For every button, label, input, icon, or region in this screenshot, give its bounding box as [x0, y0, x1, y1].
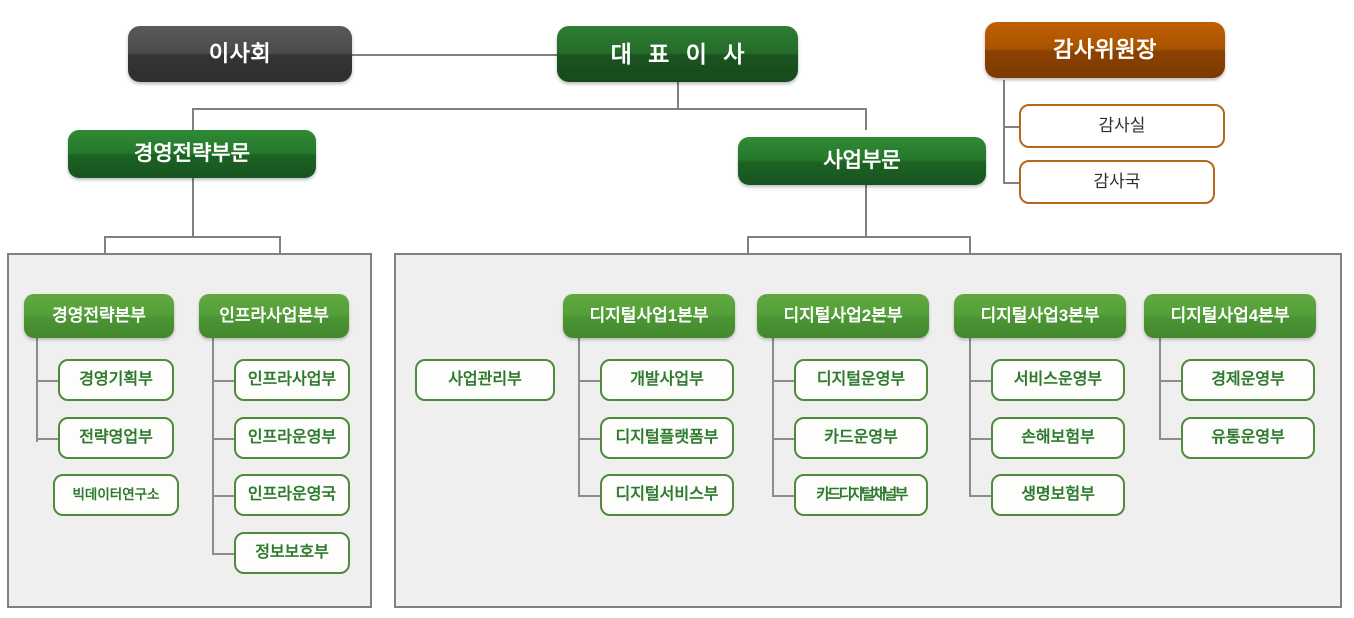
node-division-management-strategy[interactable]: 경영전략부문	[68, 130, 316, 178]
node-audit-bureau[interactable]: 감사국	[1019, 160, 1215, 204]
node-dept-development-business[interactable]: 개발사업부	[600, 359, 734, 401]
connector-strategy-division-stem	[192, 178, 194, 236]
node-hq-digital-business-4[interactable]: 디지털사업4본부	[1144, 294, 1316, 338]
connector-hq-dg1-spine	[578, 338, 580, 497]
connector-hq-dg2-dept1	[772, 380, 794, 382]
connector-hq-dg3-dept2	[969, 438, 991, 440]
node-dept-infra-business[interactable]: 인프라사업부	[234, 359, 350, 401]
connector-audit-to-bureau	[1003, 182, 1020, 184]
connector-hq-infra-dept2	[212, 438, 234, 440]
node-audit-committee-chair[interactable]: 감사위원장	[985, 22, 1225, 78]
node-dept-digital-operations[interactable]: 디지털운영부	[794, 359, 928, 401]
node-dept-digital-platform[interactable]: 디지털플랫폼부	[600, 417, 734, 459]
connector-hq-dg4-dept1	[1159, 380, 1181, 382]
node-hq-infrastructure-business[interactable]: 인프라사업본부	[199, 294, 349, 338]
connector-hq-dg2-spine	[772, 338, 774, 497]
node-dept-property-insurance[interactable]: 손해보험부	[991, 417, 1125, 459]
connector-drop-business-division	[865, 108, 867, 130]
connector-hq-infra-dept1	[212, 380, 234, 382]
connector-board-to-ceo	[352, 54, 558, 56]
node-hq-digital-business-1[interactable]: 디지털사업1본부	[563, 294, 735, 338]
connector-hq-strategy-dept1	[36, 380, 58, 382]
node-hq-digital-business-3[interactable]: 디지털사업3본부	[954, 294, 1126, 338]
node-dept-card-operations[interactable]: 카드운영부	[794, 417, 928, 459]
connector-hq-dg1-dept1	[578, 380, 600, 382]
node-hq-management-strategy[interactable]: 경영전략본부	[24, 294, 174, 338]
node-dept-distribution-operations[interactable]: 유통운영부	[1181, 417, 1315, 459]
connector-hq-dg1-dept3	[578, 495, 600, 497]
connector-hq-infra-dept3	[212, 495, 234, 497]
connector-hq-infra-dept4	[212, 553, 234, 555]
node-dept-digital-service[interactable]: 디지털서비스부	[600, 474, 734, 516]
node-dept-information-security[interactable]: 정보보호부	[234, 532, 350, 574]
connector-audit-stem	[1003, 80, 1005, 184]
connector-hq-infra-spine	[212, 338, 214, 555]
connector-business-bus	[747, 236, 970, 238]
node-audit-office[interactable]: 감사실	[1019, 104, 1225, 148]
connector-ceo-stem	[677, 82, 679, 110]
node-dept-business-management[interactable]: 사업관리부	[415, 359, 555, 401]
node-ceo[interactable]: 대 표 이 사	[557, 26, 798, 82]
node-dept-infra-operations[interactable]: 인프라운영부	[234, 417, 350, 459]
node-dept-management-planning[interactable]: 경영기획부	[58, 359, 174, 401]
connector-strategy-bus	[104, 236, 281, 238]
node-dept-bigdata-institute[interactable]: 빅데이터연구소	[53, 474, 179, 516]
connector-hq-dg2-dept2	[772, 438, 794, 440]
connector-ceo-bus	[192, 108, 867, 110]
connector-audit-to-office	[1003, 126, 1020, 128]
node-board-of-directors[interactable]: 이사회	[128, 26, 352, 82]
connector-hq-dg4-dept2	[1159, 438, 1181, 440]
node-dept-card-digital-channel[interactable]: 카드디지털채널부	[794, 474, 928, 516]
connector-hq-dg1-dept2	[578, 438, 600, 440]
node-dept-life-insurance[interactable]: 생명보험부	[991, 474, 1125, 516]
node-hq-digital-business-2[interactable]: 디지털사업2본부	[757, 294, 929, 338]
connector-hq-dg2-dept3	[772, 495, 794, 497]
node-division-business[interactable]: 사업부문	[738, 137, 986, 185]
connector-hq-strategy-spine	[36, 338, 38, 442]
node-dept-economy-operations[interactable]: 경제운영부	[1181, 359, 1315, 401]
connector-hq-dg4-spine	[1159, 338, 1161, 439]
node-dept-service-operations[interactable]: 서비스운영부	[991, 359, 1125, 401]
connector-hq-dg3-dept1	[969, 380, 991, 382]
connector-hq-dg3-spine	[969, 338, 971, 497]
connector-hq-strategy-dept2	[36, 438, 58, 440]
connector-hq-dg3-dept3	[969, 495, 991, 497]
connector-drop-strategy-division	[192, 108, 194, 130]
node-dept-infra-operations-bureau[interactable]: 인프라운영국	[234, 474, 350, 516]
org-chart-canvas: 이사회 대 표 이 사 감사위원장 감사실 감사국 경영전략부문 사업부문 경영…	[0, 0, 1354, 618]
node-dept-strategic-sales[interactable]: 전략영업부	[58, 417, 174, 459]
connector-business-division-stem	[865, 185, 867, 236]
